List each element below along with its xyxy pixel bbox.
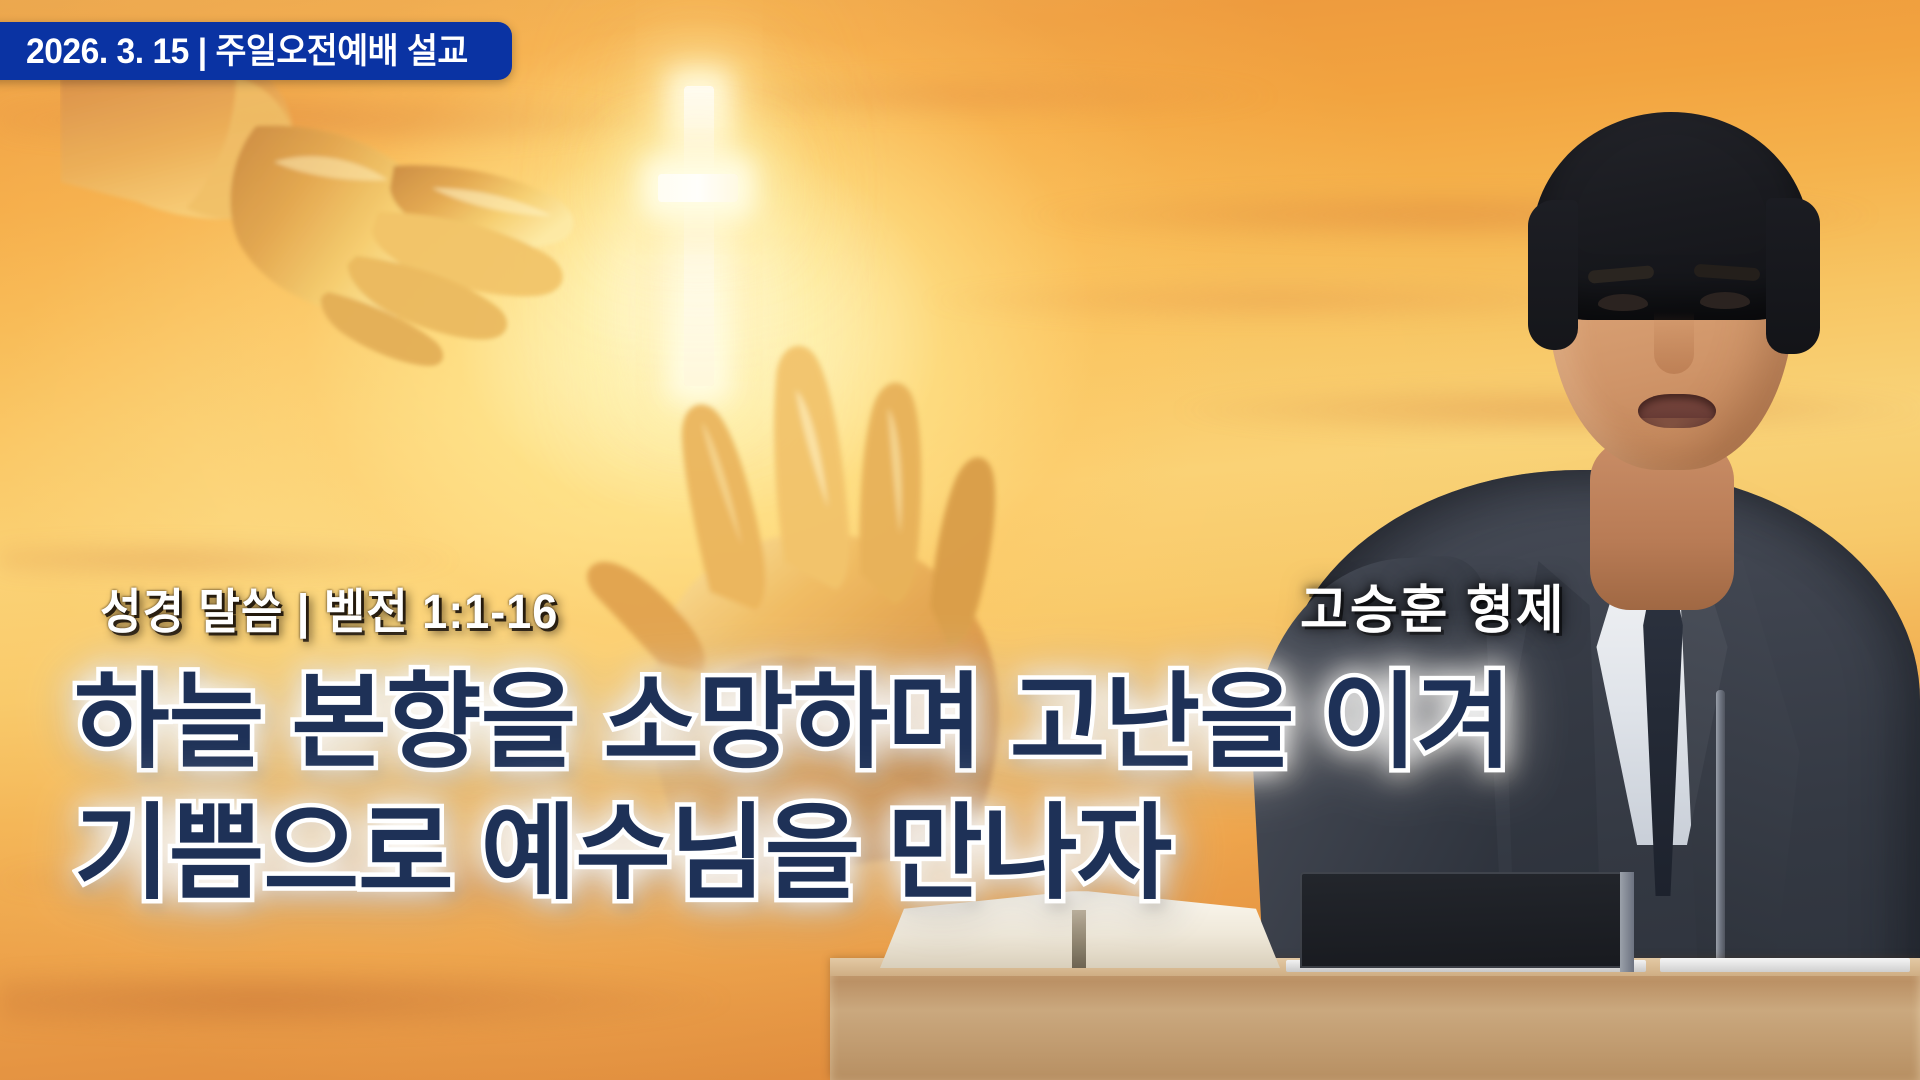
scripture-reference: 성경 말씀 | 벧전 1:1-16 (100, 572, 558, 642)
date-service-banner: 2026. 3. 15 | 주일오전예배 설교 (0, 22, 512, 80)
wooden-pulpit (830, 960, 1920, 1080)
hair-side-left (1528, 200, 1578, 350)
second-device (1660, 958, 1910, 972)
sermon-title-line-1: 하늘 본향을 소망하며 고난을 이겨 (74, 660, 1874, 787)
bible-spine (1072, 910, 1086, 968)
eye-right (1700, 292, 1750, 309)
eye-left (1598, 294, 1648, 311)
hair-side-right (1766, 198, 1820, 354)
sermon-title: 하늘 본향을 소망하며 고난을 이겨 기쁨으로 예수님을 만나자 (74, 660, 1874, 918)
chin (1610, 418, 1730, 470)
presenter-name: 고승훈 형제 (1300, 568, 1566, 643)
sermon-title-card: 2026. 3. 15 | 주일오전예배 설교 성경 말씀 | 벧전 1:1-1… (0, 0, 1920, 1080)
nose (1654, 312, 1694, 374)
sermon-title-line-2: 기쁨으로 예수님을 만나자 (74, 791, 1874, 918)
reaching-hand-icon (60, 70, 620, 400)
date-service-label: 2026. 3. 15 | 주일오전예배 설교 (26, 34, 468, 69)
